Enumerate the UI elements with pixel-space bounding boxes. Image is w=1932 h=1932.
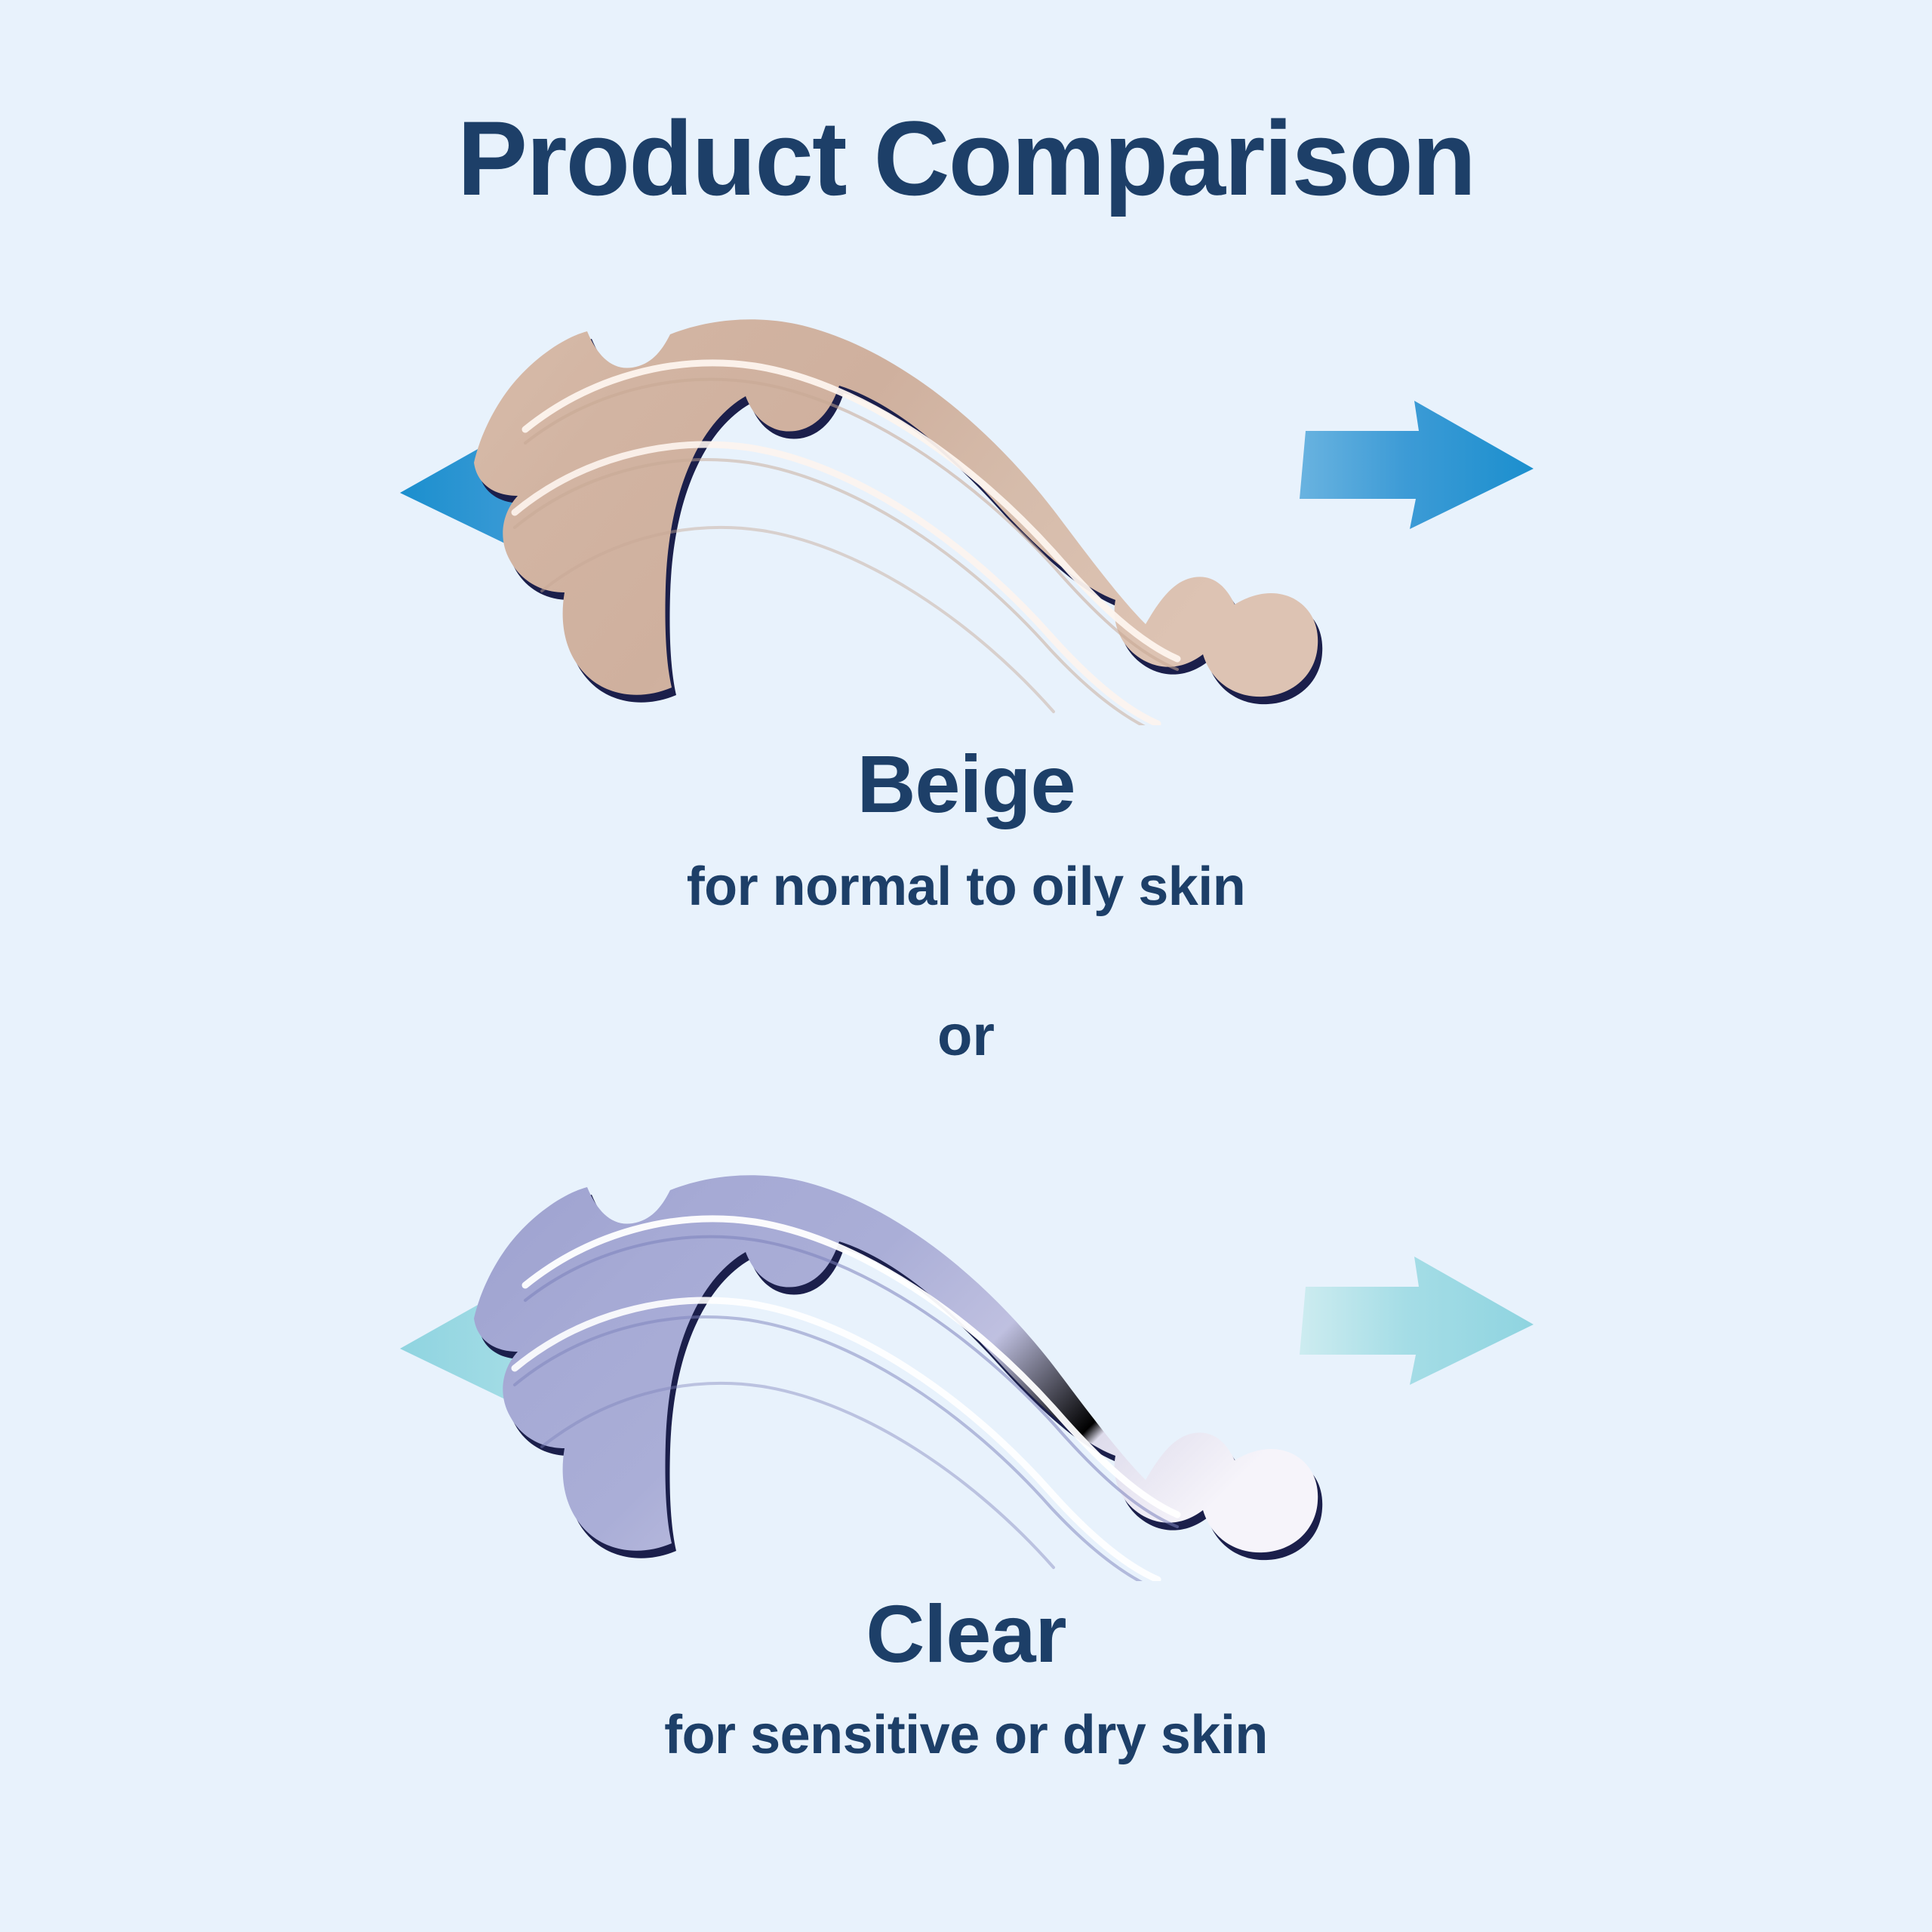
- nasal-strip-beige-icon: [377, 288, 1555, 725]
- page-title: Product Comparison: [457, 103, 1475, 214]
- product-description-clear: for sensitive or dry skin: [664, 1708, 1268, 1762]
- clear-strip-illustration-wrap: [0, 1143, 1932, 1581]
- or-divider-label: or: [937, 1008, 995, 1065]
- product-comparison-page: Product Comparison: [0, 0, 1932, 1932]
- nasal-strip-clear-icon: [377, 1143, 1555, 1581]
- stretch-arrow-right-icon: [1300, 401, 1534, 529]
- product-block-beige: Beige for normal to oily skin: [0, 214, 1932, 914]
- beige-strip-illustration-wrap: [0, 288, 1932, 725]
- stretch-arrow-right-icon: [1300, 1257, 1534, 1385]
- product-description-beige: for normal to oily skin: [687, 860, 1246, 914]
- product-name-clear: Clear: [866, 1593, 1066, 1675]
- product-name-beige: Beige: [857, 743, 1075, 825]
- product-block-clear: Clear for sensitive or dry skin: [0, 1065, 1932, 1762]
